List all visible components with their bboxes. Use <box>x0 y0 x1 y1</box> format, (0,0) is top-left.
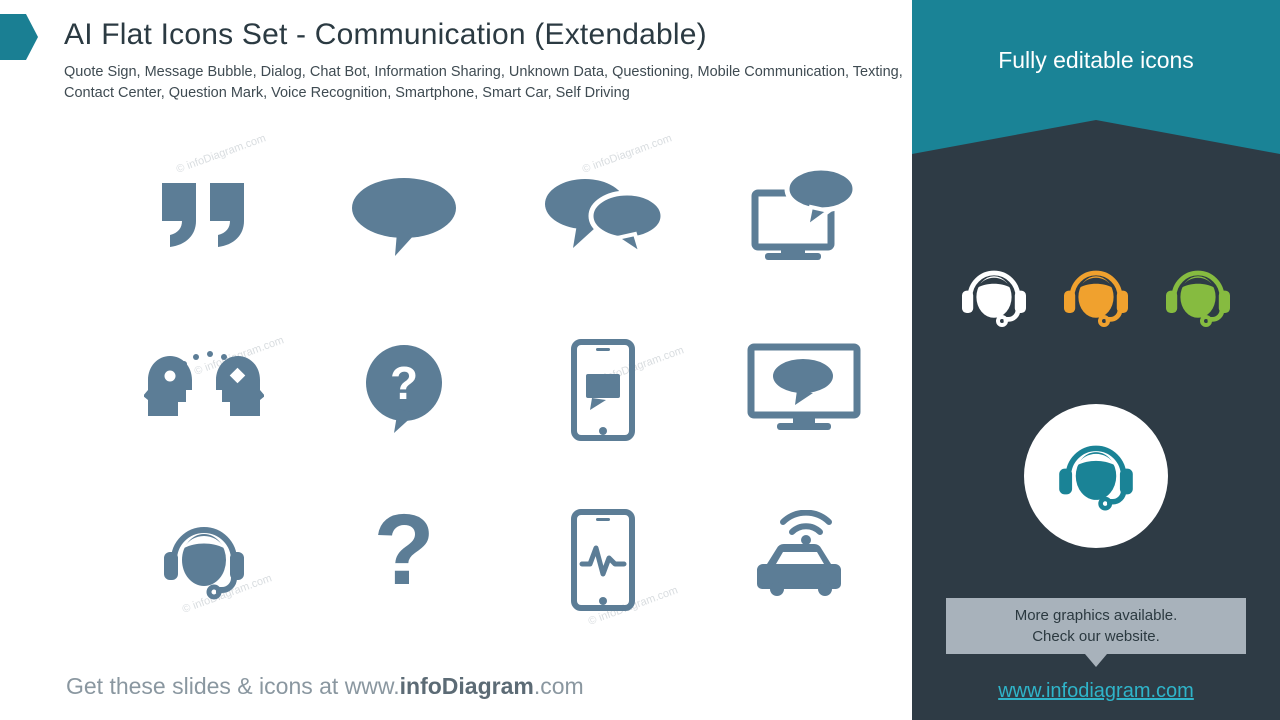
more-graphics-callout: More graphics available. Check our websi… <box>946 598 1246 654</box>
icon-cell-information-sharing[interactable] <box>104 305 304 475</box>
footer-prefix: Get these slides & icons at www. <box>66 673 400 699</box>
headset-avatars-row <box>912 252 1280 342</box>
icon-cell-smart-car[interactable] <box>704 475 904 645</box>
mobile-communication-icon <box>747 343 862 438</box>
icon-cell-mobile-communication[interactable] <box>704 305 904 475</box>
voice-recognition-icon <box>566 508 642 613</box>
icon-cell-chat-bot[interactable] <box>704 130 904 300</box>
website-link[interactable]: www.infodiagram.com <box>912 680 1280 703</box>
slide: AI Flat Icons Set - Communication (Exten… <box>0 0 1280 720</box>
message-bubble-icon <box>349 170 459 260</box>
callout-line-2: Check our website. <box>1032 626 1160 647</box>
icon-cell-contact-center[interactable] <box>104 475 304 645</box>
smart-car-icon <box>749 510 859 610</box>
unknown-data-icon: ? <box>354 343 454 438</box>
sidebar: Fully editable icons <box>912 0 1280 720</box>
questioning-icon <box>566 338 642 443</box>
page-title: AI Flat Icons Set - Communication (Exten… <box>64 18 914 52</box>
bookmark-accent <box>0 14 26 60</box>
headset-avatar-badge[interactable] <box>1024 404 1168 548</box>
icon-cell-unknown-data[interactable]: ? <box>304 305 504 475</box>
headset-avatar-green-icon[interactable] <box>1158 257 1238 337</box>
content-area: AI Flat Icons Set - Communication (Exten… <box>0 0 912 720</box>
headset-avatar-teal-icon <box>1050 430 1142 522</box>
icon-cell-voice-recognition[interactable] <box>504 475 704 645</box>
contact-center-icon <box>154 508 254 613</box>
headset-avatar-white-icon[interactable] <box>954 257 1034 337</box>
headset-avatar-orange-icon[interactable] <box>1056 257 1136 337</box>
icon-cell-quote-sign[interactable] <box>104 130 304 300</box>
question-mark-icon: ? <box>374 510 434 610</box>
chat-bot-icon <box>749 163 859 268</box>
svg-text:?: ? <box>374 510 434 606</box>
icon-cell-dialog[interactable] <box>504 130 704 300</box>
footer-brand: infoDiagram <box>400 673 534 699</box>
callout-line-1: More graphics available. <box>1015 605 1178 626</box>
icon-cell-questioning[interactable] <box>504 305 704 475</box>
page-subtitle: Quote Sign, Message Bubble, Dialog, Chat… <box>64 62 914 104</box>
information-sharing-icon <box>144 350 264 430</box>
icon-cell-question-mark[interactable]: ? <box>304 475 504 645</box>
footer-text: Get these slides & icons at www.infoDiag… <box>66 673 584 700</box>
quote-sign-icon <box>154 175 254 255</box>
icon-grid: © infoDiagram.com © infoDiagram.com © in… <box>64 130 884 650</box>
dialog-icon <box>539 170 669 260</box>
icon-cell-message-bubble[interactable] <box>304 130 504 300</box>
footer-suffix: .com <box>534 673 584 699</box>
sidebar-banner-title: Fully editable icons <box>912 0 1280 120</box>
svg-text:?: ? <box>390 357 418 409</box>
